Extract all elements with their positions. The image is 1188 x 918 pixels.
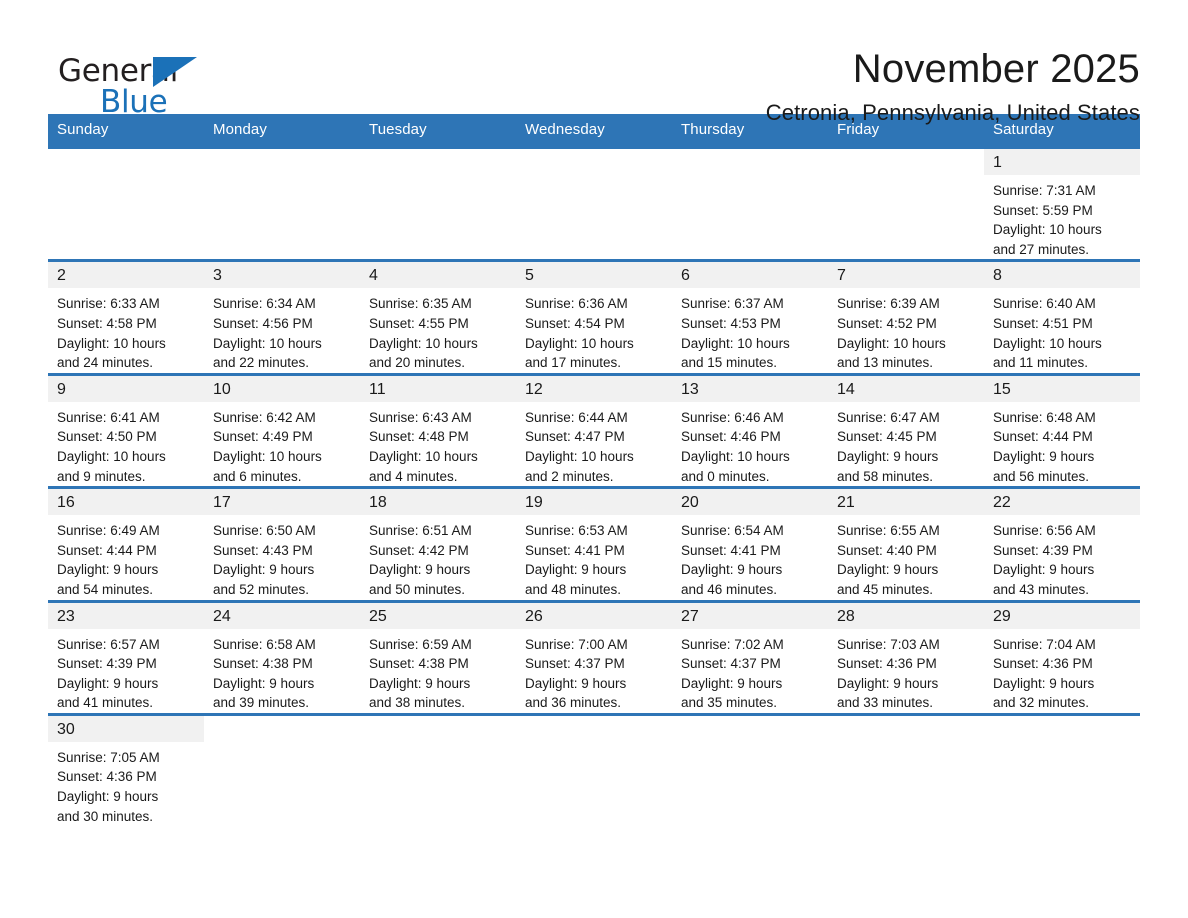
day-number: 10: [204, 376, 360, 402]
day-details: Sunrise: 6:49 AMSunset: 4:44 PMDaylight:…: [48, 515, 204, 599]
day-number: 1: [984, 149, 1140, 175]
day-number: 26: [516, 603, 672, 629]
sunset-text: Sunset: 4:39 PM: [57, 654, 198, 674]
sunrise-text: Sunrise: 6:40 AM: [993, 294, 1134, 314]
daylight-text-line2: and 46 minutes.: [681, 580, 822, 600]
calendar-day-cell[interactable]: 24Sunrise: 6:58 AMSunset: 4:38 PMDayligh…: [204, 601, 360, 714]
day-details: Sunrise: 6:58 AMSunset: 4:38 PMDaylight:…: [204, 629, 360, 713]
calendar-cell-empty: [672, 148, 828, 261]
daylight-text-line2: and 4 minutes.: [369, 467, 510, 487]
day-number: [516, 716, 672, 742]
sunrise-text: Sunrise: 7:03 AM: [837, 635, 978, 655]
day-details: Sunrise: 6:42 AMSunset: 4:49 PMDaylight:…: [204, 402, 360, 486]
daylight-text-line1: Daylight: 9 hours: [837, 447, 978, 467]
calendar-day-cell[interactable]: 2Sunrise: 6:33 AMSunset: 4:58 PMDaylight…: [48, 261, 204, 374]
day-number: 20: [672, 489, 828, 515]
sunrise-text: Sunrise: 6:50 AM: [213, 521, 354, 541]
calendar-cell-empty: [984, 714, 1140, 826]
daylight-text-line1: Daylight: 10 hours: [993, 220, 1134, 240]
page-title: November 2025: [248, 48, 1140, 91]
sunrise-text: Sunrise: 6:59 AM: [369, 635, 510, 655]
sunrise-text: Sunrise: 7:04 AM: [993, 635, 1134, 655]
calendar-day-cell[interactable]: 13Sunrise: 6:46 AMSunset: 4:46 PMDayligh…: [672, 374, 828, 487]
day-details: Sunrise: 6:57 AMSunset: 4:39 PMDaylight:…: [48, 629, 204, 713]
day-number: 27: [672, 603, 828, 629]
daylight-text-line1: Daylight: 10 hours: [369, 447, 510, 467]
daylight-text-line2: and 27 minutes.: [993, 240, 1134, 260]
daylight-text-line2: and 50 minutes.: [369, 580, 510, 600]
day-details: Sunrise: 6:53 AMSunset: 4:41 PMDaylight:…: [516, 515, 672, 599]
day-number: 14: [828, 376, 984, 402]
calendar-day-cell[interactable]: 11Sunrise: 6:43 AMSunset: 4:48 PMDayligh…: [360, 374, 516, 487]
daylight-text-line2: and 36 minutes.: [525, 693, 666, 713]
sunset-text: Sunset: 4:38 PM: [369, 654, 510, 674]
day-details: Sunrise: 6:50 AMSunset: 4:43 PMDaylight:…: [204, 515, 360, 599]
day-number: 9: [48, 376, 204, 402]
sunset-text: Sunset: 4:53 PM: [681, 314, 822, 334]
day-details: Sunrise: 6:54 AMSunset: 4:41 PMDaylight:…: [672, 515, 828, 599]
calendar-day-cell[interactable]: 20Sunrise: 6:54 AMSunset: 4:41 PMDayligh…: [672, 488, 828, 601]
sunrise-text: Sunrise: 6:39 AM: [837, 294, 978, 314]
day-number: 17: [204, 489, 360, 515]
day-details: Sunrise: 6:36 AMSunset: 4:54 PMDaylight:…: [516, 288, 672, 372]
sunset-text: Sunset: 4:51 PM: [993, 314, 1134, 334]
calendar-week-row: 9Sunrise: 6:41 AMSunset: 4:50 PMDaylight…: [48, 374, 1140, 487]
day-details: Sunrise: 7:03 AMSunset: 4:36 PMDaylight:…: [828, 629, 984, 713]
daylight-text-line2: and 15 minutes.: [681, 353, 822, 373]
daylight-text-line1: Daylight: 9 hours: [369, 560, 510, 580]
calendar-day-cell[interactable]: 7Sunrise: 6:39 AMSunset: 4:52 PMDaylight…: [828, 261, 984, 374]
day-details: Sunrise: 6:43 AMSunset: 4:48 PMDaylight:…: [360, 402, 516, 486]
day-details: Sunrise: 6:56 AMSunset: 4:39 PMDaylight:…: [984, 515, 1140, 599]
day-number: 8: [984, 262, 1140, 288]
day-number: 6: [672, 262, 828, 288]
calendar-day-cell[interactable]: 14Sunrise: 6:47 AMSunset: 4:45 PMDayligh…: [828, 374, 984, 487]
day-details: Sunrise: 6:44 AMSunset: 4:47 PMDaylight:…: [516, 402, 672, 486]
daylight-text-line2: and 48 minutes.: [525, 580, 666, 600]
day-details: Sunrise: 6:33 AMSunset: 4:58 PMDaylight:…: [48, 288, 204, 372]
sunrise-text: Sunrise: 6:53 AM: [525, 521, 666, 541]
day-number: [204, 149, 360, 175]
day-number: 25: [360, 603, 516, 629]
daylight-text-line1: Daylight: 9 hours: [213, 674, 354, 694]
sunset-text: Sunset: 4:39 PM: [993, 541, 1134, 561]
daylight-text-line1: Daylight: 10 hours: [525, 334, 666, 354]
day-details: Sunrise: 6:55 AMSunset: 4:40 PMDaylight:…: [828, 515, 984, 599]
sunset-text: Sunset: 4:41 PM: [525, 541, 666, 561]
day-details: Sunrise: 7:00 AMSunset: 4:37 PMDaylight:…: [516, 629, 672, 713]
daylight-text-line2: and 56 minutes.: [993, 467, 1134, 487]
calendar-week-row: 1Sunrise: 7:31 AMSunset: 5:59 PMDaylight…: [48, 148, 1140, 261]
calendar-cell-empty: [672, 714, 828, 826]
calendar-day-cell[interactable]: 6Sunrise: 6:37 AMSunset: 4:53 PMDaylight…: [672, 261, 828, 374]
day-number: [204, 716, 360, 742]
sunrise-text: Sunrise: 7:00 AM: [525, 635, 666, 655]
sunrise-text: Sunrise: 7:02 AM: [681, 635, 822, 655]
calendar-day-cell[interactable]: 27Sunrise: 7:02 AMSunset: 4:37 PMDayligh…: [672, 601, 828, 714]
day-number: 5: [516, 262, 672, 288]
page-header: General Blue November 2025 Cetronia, Pen…: [48, 0, 1140, 100]
calendar-cell-empty: [828, 148, 984, 261]
sunrise-text: Sunrise: 6:48 AM: [993, 408, 1134, 428]
sunset-text: Sunset: 4:37 PM: [525, 654, 666, 674]
day-number: 23: [48, 603, 204, 629]
sunset-text: Sunset: 5:59 PM: [993, 201, 1134, 221]
sunset-text: Sunset: 4:43 PM: [213, 541, 354, 561]
daylight-text-line1: Daylight: 9 hours: [681, 674, 822, 694]
daylight-text-line1: Daylight: 10 hours: [369, 334, 510, 354]
day-number: 4: [360, 262, 516, 288]
day-number: 3: [204, 262, 360, 288]
calendar-cell-empty: [360, 714, 516, 826]
calendar-cell-empty: [204, 714, 360, 826]
sunset-text: Sunset: 4:48 PM: [369, 427, 510, 447]
day-details: Sunrise: 6:39 AMSunset: 4:52 PMDaylight:…: [828, 288, 984, 372]
day-details: Sunrise: 6:37 AMSunset: 4:53 PMDaylight:…: [672, 288, 828, 372]
daylight-text-line2: and 43 minutes.: [993, 580, 1134, 600]
sunset-text: Sunset: 4:55 PM: [369, 314, 510, 334]
calendar-day-cell[interactable]: 30Sunrise: 7:05 AMSunset: 4:36 PMDayligh…: [48, 714, 204, 826]
sunrise-text: Sunrise: 6:42 AM: [213, 408, 354, 428]
calendar-day-cell[interactable]: 29Sunrise: 7:04 AMSunset: 4:36 PMDayligh…: [984, 601, 1140, 714]
daylight-text-line2: and 9 minutes.: [57, 467, 198, 487]
sunrise-text: Sunrise: 6:35 AM: [369, 294, 510, 314]
daylight-text-line1: Daylight: 10 hours: [681, 334, 822, 354]
day-details: Sunrise: 7:31 AMSunset: 5:59 PMDaylight:…: [984, 175, 1140, 259]
sunrise-sunset-calendar: Sunday Monday Tuesday Wednesday Thursday…: [48, 114, 1140, 826]
daylight-text-line1: Daylight: 9 hours: [57, 787, 198, 807]
daylight-text-line2: and 35 minutes.: [681, 693, 822, 713]
sunrise-text: Sunrise: 6:33 AM: [57, 294, 198, 314]
daylight-text-line2: and 58 minutes.: [837, 467, 978, 487]
day-number: 12: [516, 376, 672, 402]
sunrise-text: Sunrise: 6:51 AM: [369, 521, 510, 541]
sunrise-text: Sunrise: 6:44 AM: [525, 408, 666, 428]
daylight-text-line1: Daylight: 10 hours: [57, 447, 198, 467]
day-number: [828, 716, 984, 742]
sunrise-text: Sunrise: 6:37 AM: [681, 294, 822, 314]
daylight-text-line2: and 45 minutes.: [837, 580, 978, 600]
day-number: [828, 149, 984, 175]
daylight-text-line1: Daylight: 10 hours: [213, 447, 354, 467]
calendar-day-cell[interactable]: 1Sunrise: 7:31 AMSunset: 5:59 PMDaylight…: [984, 148, 1140, 261]
calendar-week-row: 2Sunrise: 6:33 AMSunset: 4:58 PMDaylight…: [48, 261, 1140, 374]
daylight-text-line2: and 22 minutes.: [213, 353, 354, 373]
calendar-day-cell[interactable]: 25Sunrise: 6:59 AMSunset: 4:38 PMDayligh…: [360, 601, 516, 714]
calendar-day-cell[interactable]: 15Sunrise: 6:48 AMSunset: 4:44 PMDayligh…: [984, 374, 1140, 487]
daylight-text-line1: Daylight: 10 hours: [993, 334, 1134, 354]
daylight-text-line1: Daylight: 9 hours: [837, 560, 978, 580]
sunset-text: Sunset: 4:58 PM: [57, 314, 198, 334]
daylight-text-line1: Daylight: 10 hours: [213, 334, 354, 354]
calendar-day-cell[interactable]: 12Sunrise: 6:44 AMSunset: 4:47 PMDayligh…: [516, 374, 672, 487]
calendar-body: 1Sunrise: 7:31 AMSunset: 5:59 PMDaylight…: [48, 148, 1140, 827]
sunset-text: Sunset: 4:44 PM: [993, 427, 1134, 447]
sunset-text: Sunset: 4:47 PM: [525, 427, 666, 447]
day-details: Sunrise: 6:59 AMSunset: 4:38 PMDaylight:…: [360, 629, 516, 713]
calendar-day-cell[interactable]: 10Sunrise: 6:42 AMSunset: 4:49 PMDayligh…: [204, 374, 360, 487]
daylight-text-line1: Daylight: 10 hours: [525, 447, 666, 467]
daylight-text-line2: and 24 minutes.: [57, 353, 198, 373]
sunrise-text: Sunrise: 6:43 AM: [369, 408, 510, 428]
sunset-text: Sunset: 4:42 PM: [369, 541, 510, 561]
calendar-day-cell[interactable]: 9Sunrise: 6:41 AMSunset: 4:50 PMDaylight…: [48, 374, 204, 487]
calendar-day-cell[interactable]: 8Sunrise: 6:40 AMSunset: 4:51 PMDaylight…: [984, 261, 1140, 374]
calendar-cell-empty: [516, 148, 672, 261]
daylight-text-line2: and 32 minutes.: [993, 693, 1134, 713]
calendar-week-row: 23Sunrise: 6:57 AMSunset: 4:39 PMDayligh…: [48, 601, 1140, 714]
day-number: 18: [360, 489, 516, 515]
sunrise-text: Sunrise: 6:34 AM: [213, 294, 354, 314]
sunset-text: Sunset: 4:49 PM: [213, 427, 354, 447]
daylight-text-line1: Daylight: 9 hours: [369, 674, 510, 694]
sunset-text: Sunset: 4:40 PM: [837, 541, 978, 561]
sunset-text: Sunset: 4:41 PM: [681, 541, 822, 561]
daylight-text-line1: Daylight: 9 hours: [57, 560, 198, 580]
day-number: 29: [984, 603, 1140, 629]
daylight-text-line2: and 11 minutes.: [993, 353, 1134, 373]
sunrise-text: Sunrise: 6:41 AM: [57, 408, 198, 428]
sunset-text: Sunset: 4:37 PM: [681, 654, 822, 674]
calendar-cell-empty: [828, 714, 984, 826]
sunset-text: Sunset: 4:45 PM: [837, 427, 978, 447]
calendar-day-cell[interactable]: 18Sunrise: 6:51 AMSunset: 4:42 PMDayligh…: [360, 488, 516, 601]
calendar-cell-empty: [360, 148, 516, 261]
daylight-text-line2: and 6 minutes.: [213, 467, 354, 487]
sunrise-text: Sunrise: 6:55 AM: [837, 521, 978, 541]
day-number: [516, 149, 672, 175]
sunrise-text: Sunrise: 6:54 AM: [681, 521, 822, 541]
sunset-text: Sunset: 4:52 PM: [837, 314, 978, 334]
daylight-text-line2: and 13 minutes.: [837, 353, 978, 373]
day-details: Sunrise: 6:51 AMSunset: 4:42 PMDaylight:…: [360, 515, 516, 599]
sunrise-text: Sunrise: 6:46 AM: [681, 408, 822, 428]
sunset-text: Sunset: 4:50 PM: [57, 427, 198, 447]
sunset-text: Sunset: 4:36 PM: [837, 654, 978, 674]
sunrise-text: Sunrise: 6:56 AM: [993, 521, 1134, 541]
daylight-text-line2: and 17 minutes.: [525, 353, 666, 373]
calendar-day-cell[interactable]: 16Sunrise: 6:49 AMSunset: 4:44 PMDayligh…: [48, 488, 204, 601]
day-number: 30: [48, 716, 204, 742]
day-number: 16: [48, 489, 204, 515]
calendar-cell-empty: [48, 148, 204, 261]
calendar-day-cell[interactable]: 21Sunrise: 6:55 AMSunset: 4:40 PMDayligh…: [828, 488, 984, 601]
sunrise-text: Sunrise: 6:36 AM: [525, 294, 666, 314]
daylight-text-line1: Daylight: 9 hours: [993, 674, 1134, 694]
calendar-day-cell[interactable]: 19Sunrise: 6:53 AMSunset: 4:41 PMDayligh…: [516, 488, 672, 601]
daylight-text-line1: Daylight: 9 hours: [57, 674, 198, 694]
day-number: [360, 716, 516, 742]
day-number: 24: [204, 603, 360, 629]
day-details: Sunrise: 7:04 AMSunset: 4:36 PMDaylight:…: [984, 629, 1140, 713]
day-number: [48, 149, 204, 175]
logo-text-blue: Blue: [100, 87, 167, 118]
sunset-text: Sunset: 4:36 PM: [57, 767, 198, 787]
calendar-cell-empty: [516, 714, 672, 826]
logo-triangle-icon: [153, 57, 197, 87]
daylight-text-line2: and 20 minutes.: [369, 353, 510, 373]
daylight-text-line1: Daylight: 10 hours: [837, 334, 978, 354]
day-number: [360, 149, 516, 175]
sunrise-text: Sunrise: 7:05 AM: [57, 748, 198, 768]
calendar-day-cell[interactable]: 4Sunrise: 6:35 AMSunset: 4:55 PMDaylight…: [360, 261, 516, 374]
day-number: [672, 716, 828, 742]
calendar-week-row: 16Sunrise: 6:49 AMSunset: 4:44 PMDayligh…: [48, 488, 1140, 601]
daylight-text-line2: and 2 minutes.: [525, 467, 666, 487]
daylight-text-line1: Daylight: 9 hours: [681, 560, 822, 580]
day-details: Sunrise: 6:46 AMSunset: 4:46 PMDaylight:…: [672, 402, 828, 486]
day-details: Sunrise: 7:05 AMSunset: 4:36 PMDaylight:…: [48, 742, 204, 826]
daylight-text-line2: and 33 minutes.: [837, 693, 978, 713]
sunrise-text: Sunrise: 6:58 AM: [213, 635, 354, 655]
day-number: 11: [360, 376, 516, 402]
daylight-text-line1: Daylight: 9 hours: [993, 447, 1134, 467]
day-number: 21: [828, 489, 984, 515]
sunset-text: Sunset: 4:46 PM: [681, 427, 822, 447]
calendar-page: General Blue November 2025 Cetronia, Pen…: [0, 0, 1188, 918]
daylight-text-line1: Daylight: 9 hours: [525, 674, 666, 694]
day-number: 19: [516, 489, 672, 515]
general-blue-logo: General Blue: [48, 46, 248, 122]
calendar-day-cell[interactable]: 28Sunrise: 7:03 AMSunset: 4:36 PMDayligh…: [828, 601, 984, 714]
day-number: [672, 149, 828, 175]
calendar-day-cell[interactable]: 26Sunrise: 7:00 AMSunset: 4:37 PMDayligh…: [516, 601, 672, 714]
sunrise-text: Sunrise: 6:49 AM: [57, 521, 198, 541]
day-details: Sunrise: 6:35 AMSunset: 4:55 PMDaylight:…: [360, 288, 516, 372]
calendar-week-row: 30Sunrise: 7:05 AMSunset: 4:36 PMDayligh…: [48, 714, 1140, 826]
daylight-text-line1: Daylight: 10 hours: [57, 334, 198, 354]
calendar-cell-empty: [204, 148, 360, 261]
sunset-text: Sunset: 4:38 PM: [213, 654, 354, 674]
sunset-text: Sunset: 4:36 PM: [993, 654, 1134, 674]
sunrise-text: Sunrise: 7:31 AM: [993, 181, 1134, 201]
calendar-day-cell[interactable]: 23Sunrise: 6:57 AMSunset: 4:39 PMDayligh…: [48, 601, 204, 714]
daylight-text-line2: and 38 minutes.: [369, 693, 510, 713]
daylight-text-line2: and 39 minutes.: [213, 693, 354, 713]
daylight-text-line1: Daylight: 9 hours: [993, 560, 1134, 580]
day-number: 28: [828, 603, 984, 629]
header-titles: November 2025 Cetronia, Pennsylvania, Un…: [248, 46, 1140, 125]
daylight-text-line1: Daylight: 9 hours: [525, 560, 666, 580]
daylight-text-line1: Daylight: 9 hours: [213, 560, 354, 580]
sunset-text: Sunset: 4:44 PM: [57, 541, 198, 561]
day-number: 2: [48, 262, 204, 288]
daylight-text-line1: Daylight: 9 hours: [837, 674, 978, 694]
calendar-day-cell[interactable]: 3Sunrise: 6:34 AMSunset: 4:56 PMDaylight…: [204, 261, 360, 374]
day-number: 22: [984, 489, 1140, 515]
daylight-text-line2: and 0 minutes.: [681, 467, 822, 487]
day-details: Sunrise: 6:47 AMSunset: 4:45 PMDaylight:…: [828, 402, 984, 486]
sunrise-text: Sunrise: 6:47 AM: [837, 408, 978, 428]
daylight-text-line2: and 41 minutes.: [57, 693, 198, 713]
day-number: 7: [828, 262, 984, 288]
sunrise-text: Sunrise: 6:57 AM: [57, 635, 198, 655]
calendar-day-cell[interactable]: 22Sunrise: 6:56 AMSunset: 4:39 PMDayligh…: [984, 488, 1140, 601]
daylight-text-line2: and 30 minutes.: [57, 807, 198, 827]
day-details: Sunrise: 6:41 AMSunset: 4:50 PMDaylight:…: [48, 402, 204, 486]
calendar-day-cell[interactable]: 17Sunrise: 6:50 AMSunset: 4:43 PMDayligh…: [204, 488, 360, 601]
day-details: Sunrise: 7:02 AMSunset: 4:37 PMDaylight:…: [672, 629, 828, 713]
day-number: 15: [984, 376, 1140, 402]
day-number: 13: [672, 376, 828, 402]
sunset-text: Sunset: 4:56 PM: [213, 314, 354, 334]
sunset-text: Sunset: 4:54 PM: [525, 314, 666, 334]
day-details: Sunrise: 6:34 AMSunset: 4:56 PMDaylight:…: [204, 288, 360, 372]
day-details: Sunrise: 6:40 AMSunset: 4:51 PMDaylight:…: [984, 288, 1140, 372]
daylight-text-line2: and 52 minutes.: [213, 580, 354, 600]
daylight-text-line1: Daylight: 10 hours: [681, 447, 822, 467]
day-details: Sunrise: 6:48 AMSunset: 4:44 PMDaylight:…: [984, 402, 1140, 486]
calendar-day-cell[interactable]: 5Sunrise: 6:36 AMSunset: 4:54 PMDaylight…: [516, 261, 672, 374]
day-number: [984, 716, 1140, 742]
daylight-text-line2: and 54 minutes.: [57, 580, 198, 600]
